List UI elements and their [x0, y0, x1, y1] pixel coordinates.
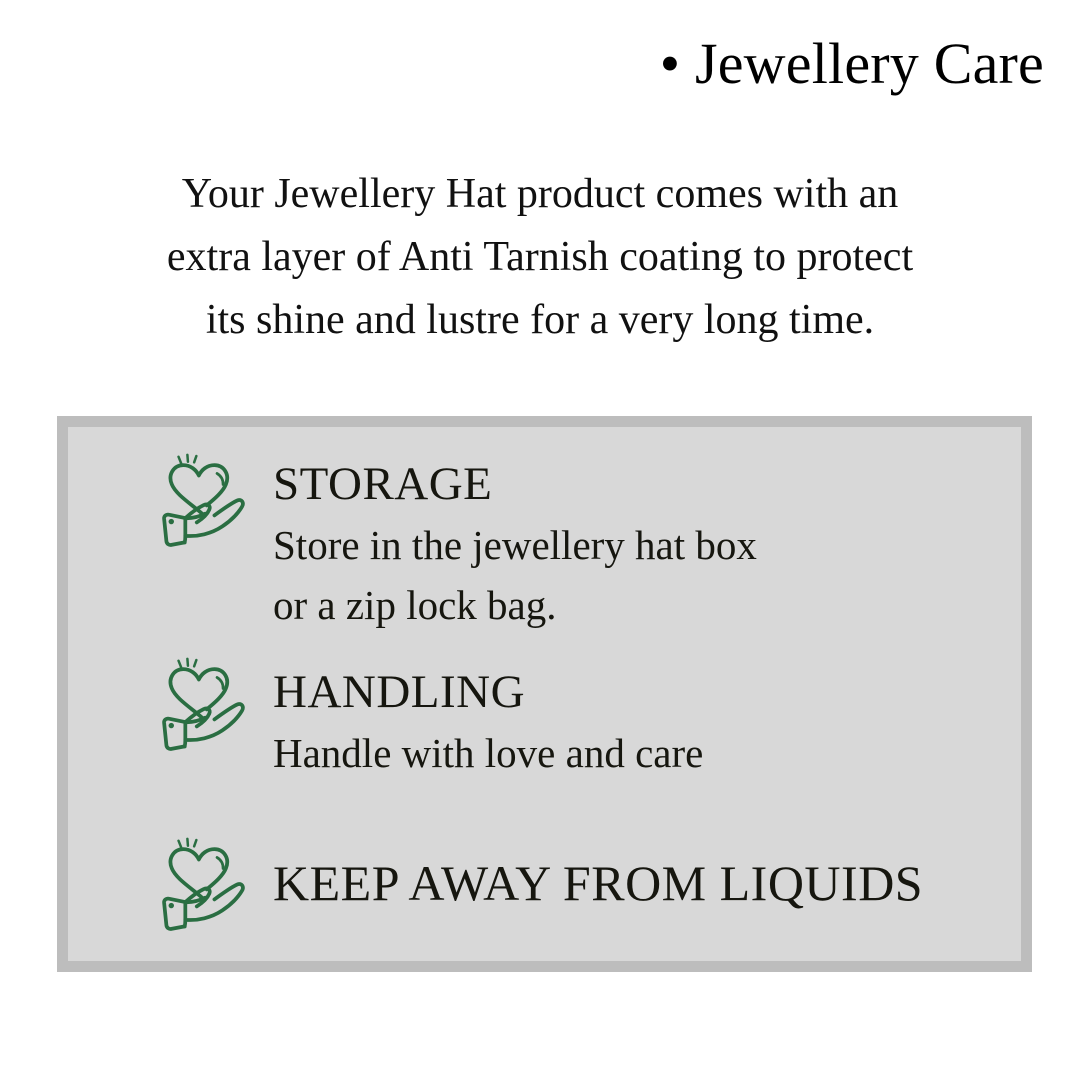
- care-item-handling: HANDLING Handle with love and care: [151, 653, 703, 783]
- care-item-body: Handle with love and care: [273, 723, 703, 783]
- intro-paragraph: Your Jewellery Hat product comes with an…: [70, 163, 1010, 352]
- page-title: • Jewellery Care: [0, 34, 1044, 95]
- care-item-text: HANDLING Handle with love and care: [273, 653, 703, 783]
- intro-line-1: Your Jewellery Hat product comes with an: [70, 163, 1010, 226]
- care-item-body-line: Handle with love and care: [273, 723, 703, 783]
- care-instructions-list: STORAGE Store in the jewellery hat box o…: [68, 427, 1021, 961]
- care-instructions-panel: STORAGE Store in the jewellery hat box o…: [57, 416, 1032, 972]
- care-item-text: KEEP AWAY FROM LIQUIDS: [273, 833, 923, 911]
- care-item-body: Store in the jewellery hat box or a zip …: [273, 515, 757, 635]
- intro-line-2: extra layer of Anti Tarnish coating to p…: [70, 226, 1010, 289]
- care-item-text: STORAGE Store in the jewellery hat box o…: [273, 449, 757, 635]
- page-title-text: • Jewellery Care: [660, 34, 1044, 95]
- care-item-storage: STORAGE Store in the jewellery hat box o…: [151, 449, 757, 635]
- care-item-keep-away-from-liquids: KEEP AWAY FROM LIQUIDS: [151, 833, 923, 937]
- jewellery-care-page: • Jewellery Care Your Jewellery Hat prod…: [0, 0, 1080, 1080]
- hand-holding-heart-icon: [151, 653, 255, 757]
- care-item-body-line: Store in the jewellery hat box: [273, 515, 757, 575]
- hand-holding-heart-icon: [151, 833, 255, 937]
- hand-holding-heart-icon: [151, 449, 255, 553]
- care-item-body-line: or a zip lock bag.: [273, 575, 757, 635]
- care-item-heading: KEEP AWAY FROM LIQUIDS: [273, 855, 923, 911]
- care-item-heading: HANDLING: [273, 666, 525, 718]
- care-item-heading: STORAGE: [273, 458, 492, 510]
- intro-line-3: its shine and lustre for a very long tim…: [70, 289, 1010, 352]
